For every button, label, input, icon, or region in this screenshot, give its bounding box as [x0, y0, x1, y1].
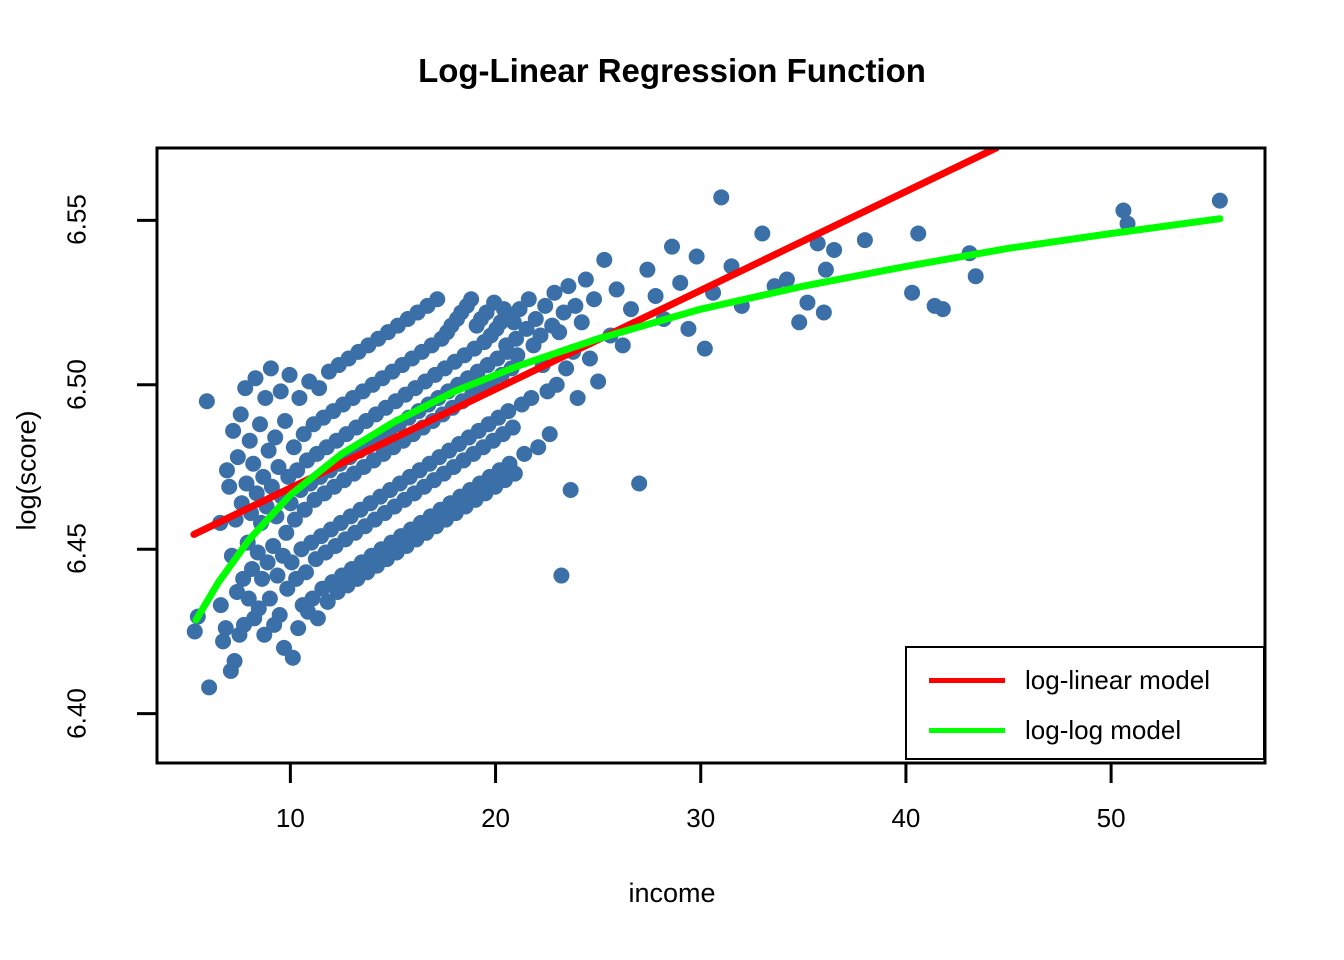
- chart-legend: log-linear model log-log model: [905, 646, 1265, 760]
- scatter-point: [254, 571, 270, 587]
- scatter-point: [530, 439, 546, 455]
- scatter-point: [285, 650, 301, 666]
- scatter-point: [310, 610, 326, 626]
- scatter-point: [262, 591, 278, 607]
- y-tick-label: 6.45: [62, 499, 93, 599]
- scatter-point: [631, 475, 647, 491]
- scatter-point: [429, 291, 445, 307]
- scatter-point: [257, 390, 273, 406]
- scatter-point: [230, 449, 246, 465]
- scatter-point: [187, 623, 203, 639]
- scatter-point: [252, 416, 268, 432]
- scatter-point: [286, 439, 302, 455]
- scatter-point: [242, 433, 258, 449]
- scatter-point: [574, 314, 590, 330]
- scatter-point: [567, 298, 583, 314]
- scatter-point: [290, 620, 306, 636]
- scatter-point: [282, 367, 298, 383]
- scatter-point: [857, 232, 873, 248]
- scatter-point: [549, 377, 565, 393]
- scatter-point: [273, 383, 289, 399]
- x-tick-label: 10: [250, 803, 330, 834]
- scatter-point: [521, 291, 537, 307]
- scatter-point: [245, 456, 261, 472]
- scatter-point: [639, 262, 655, 278]
- scatter-point: [225, 423, 241, 439]
- scatter-point: [267, 429, 283, 445]
- scatter-point: [263, 360, 279, 376]
- scatter-point: [201, 679, 217, 695]
- x-axis-label: income: [0, 878, 1344, 909]
- scatter-point: [311, 380, 327, 396]
- scatter-point: [590, 374, 606, 390]
- scatter-point: [582, 350, 598, 366]
- legend-item-log-linear-model: log-linear model: [907, 656, 1263, 704]
- scatter-point: [623, 301, 639, 317]
- scatter-point: [586, 291, 602, 307]
- chart-figure: Log-Linear Regression Function 102030405…: [0, 0, 1344, 960]
- y-tick-label: 6.50: [62, 334, 93, 434]
- legend-label-log-log-model: log-log model: [1025, 715, 1181, 746]
- y-axis-label: log(score): [12, 351, 43, 591]
- regression-line-log-log-model: [196, 219, 1220, 620]
- scatter-point: [507, 466, 523, 482]
- scatter-point: [553, 568, 569, 584]
- scatter-point: [799, 295, 815, 311]
- scatter-point: [215, 633, 231, 649]
- scatter-point: [272, 607, 288, 623]
- scatter-point: [1212, 193, 1228, 209]
- scatter-point: [269, 568, 285, 584]
- scatter-point: [213, 597, 229, 613]
- scatter-point: [648, 288, 664, 304]
- y-tick-label: 6.55: [62, 170, 93, 270]
- x-tick-label: 20: [456, 803, 536, 834]
- scatter-point: [233, 406, 249, 422]
- scatter-point: [537, 298, 553, 314]
- legend-item-log-log-model: log-log model: [907, 706, 1263, 754]
- x-tick-label: 50: [1071, 803, 1151, 834]
- scatter-point: [689, 249, 705, 265]
- scatter-point: [221, 479, 237, 495]
- scatter-point: [791, 314, 807, 330]
- scatter-point: [816, 304, 832, 320]
- scatter-point: [672, 275, 688, 291]
- scatter-point: [615, 337, 631, 353]
- scatter-point: [278, 525, 294, 541]
- scatter-point: [904, 285, 920, 301]
- scatter-point: [260, 554, 276, 570]
- scatter-point: [277, 413, 293, 429]
- scatter-point: [910, 226, 926, 242]
- scatter-point: [713, 189, 729, 205]
- scatter-point: [500, 403, 516, 419]
- scatter-point: [570, 390, 586, 406]
- scatter-point: [199, 393, 215, 409]
- scatter-point: [697, 341, 713, 357]
- scatter-point: [528, 311, 544, 327]
- scatter-point: [542, 426, 558, 442]
- scatter-point: [826, 242, 842, 258]
- scatter-point: [463, 291, 479, 307]
- scatter-point: [596, 252, 612, 268]
- scatter-points-layer: [187, 189, 1228, 695]
- scatter-point: [563, 482, 579, 498]
- scatter-point: [664, 239, 680, 255]
- scatter-point: [298, 564, 314, 580]
- x-tick-label: 30: [661, 803, 741, 834]
- scatter-point: [754, 226, 770, 242]
- x-tick-label: 40: [866, 803, 946, 834]
- scatter-point: [551, 324, 567, 340]
- scatter-point: [218, 620, 234, 636]
- scatter-point: [227, 653, 243, 669]
- legend-swatch-log-log-model: [929, 728, 1005, 733]
- scatter-point: [968, 268, 984, 284]
- scatter-point: [219, 462, 235, 478]
- legend-label-log-linear-model: log-linear model: [1025, 665, 1210, 696]
- scatter-point: [247, 370, 263, 386]
- scatter-point: [818, 262, 834, 278]
- scatter-point: [560, 278, 576, 294]
- scatter-point: [546, 285, 562, 301]
- scatter-point: [505, 420, 521, 436]
- scatter-point: [291, 390, 307, 406]
- scatter-point: [523, 390, 539, 406]
- scatter-point: [609, 281, 625, 297]
- regression-lines-layer: [194, 148, 1220, 620]
- scatter-point: [516, 446, 532, 462]
- scatter-point: [935, 301, 951, 317]
- scatter-point: [680, 321, 696, 337]
- scatter-point: [284, 554, 300, 570]
- legend-swatch-log-linear-model: [929, 678, 1005, 683]
- y-tick-label: 6.40: [62, 663, 93, 763]
- scatter-point: [578, 272, 594, 288]
- scatter-point: [558, 360, 574, 376]
